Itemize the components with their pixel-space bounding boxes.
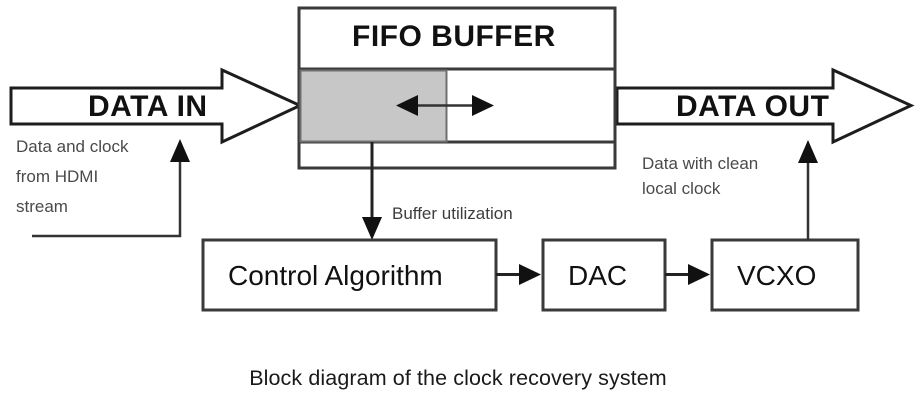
data-in-note-line2: from HDMI	[16, 167, 98, 186]
clock-recovery-block-diagram: DATA IN DATA OUT FIFO BUFFER Buffer util…	[0, 0, 916, 408]
vcxo-label: VCXO	[737, 260, 816, 291]
data-out-label: DATA OUT	[676, 90, 829, 123]
dac-to-vcxo-arrow	[665, 264, 710, 285]
buffer-utilization-label: Buffer utilization	[392, 204, 513, 223]
figure-caption: Block diagram of the clock recovery syst…	[0, 366, 916, 391]
data-out-note-line2: local clock	[642, 179, 721, 198]
data-out-note-line1: Data with clean	[642, 154, 758, 173]
control-to-dac-arrow	[496, 264, 541, 285]
data-in-label: DATA IN	[88, 90, 208, 123]
data-in-note-line3: stream	[16, 197, 68, 216]
control-algorithm-label: Control Algorithm	[228, 260, 443, 291]
data-in-note-line1: Data and clock	[16, 137, 129, 156]
vcxo-to-data-out-arrow	[798, 140, 818, 240]
fifo-buffer-title: FIFO BUFFER	[352, 20, 556, 53]
block-diagram-figure: DATA IN DATA OUT FIFO BUFFER Buffer util…	[0, 0, 916, 408]
dac-label: DAC	[568, 260, 627, 291]
figure-caption-text: Block diagram of the clock recovery syst…	[249, 366, 667, 390]
